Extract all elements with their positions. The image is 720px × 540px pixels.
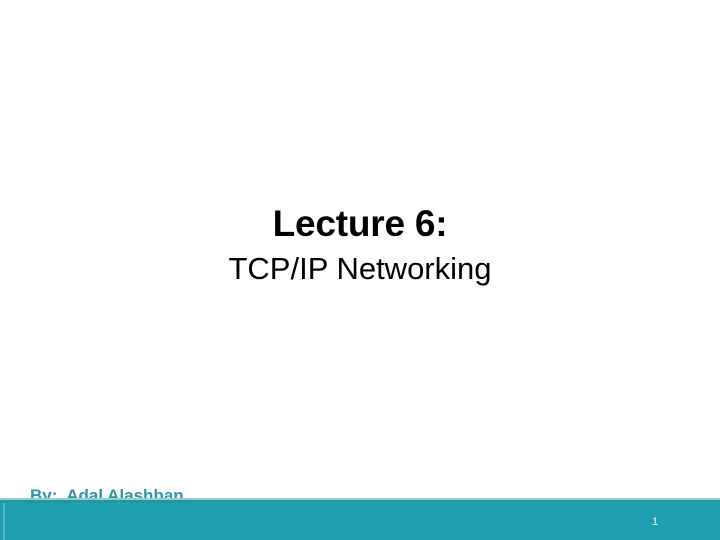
page-subtitle: TCP/IP Networking [0,250,720,288]
footer-left-inset-rule [3,503,5,540]
slide-title-block: Lecture 6: TCP/IP Networking [0,202,720,288]
footer-top-separator-rule [0,500,720,503]
page-title: Lecture 6: [0,202,720,246]
footer-bar [0,498,720,540]
page-number: 1 [646,515,664,529]
presentation-slide: Lecture 6: TCP/IP Networking By: Adal Al… [0,0,720,540]
